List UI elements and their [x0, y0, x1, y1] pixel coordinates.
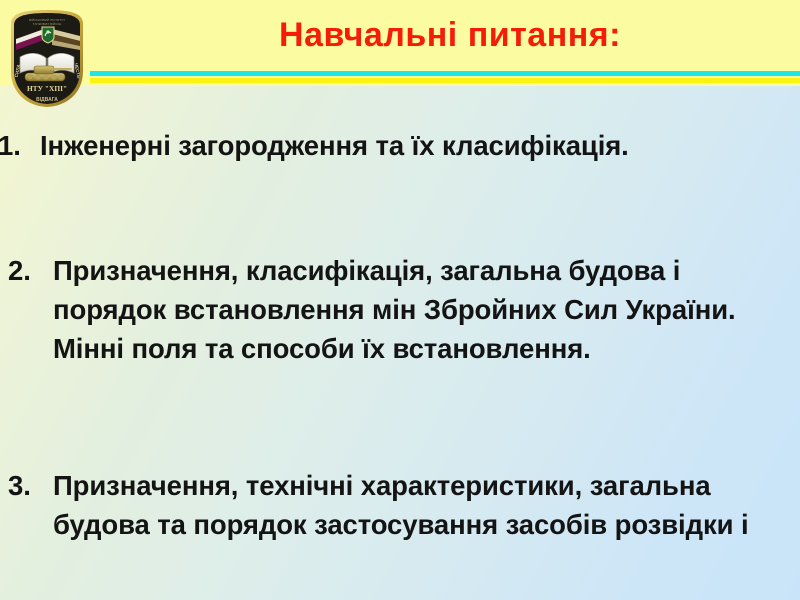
list-item-number: 3. [8, 466, 50, 505]
slide-canvas: Навчальні питання: [0, 0, 800, 600]
list-item: 1.Інженерні загородження та їх класифіка… [0, 126, 640, 165]
ntu-khpi-emblem-icon: ВІЙСЬКОВИЙ ІНСТИТУТ ТАНКОВИХ ВІЙСЬК [8, 9, 86, 108]
list-item-text: Інженерні загородження та їх класифікаці… [40, 130, 629, 161]
list-item-number: 2. [8, 251, 50, 290]
svg-text:ТАНКОВИХ ВІЙСЬК: ТАНКОВИХ ВІЙСЬК [33, 22, 62, 26]
page-title: Навчальні питання: [120, 13, 780, 57]
divider-rule-cyan [90, 71, 800, 76]
list-item-text: Призначення, технічні характеристики, за… [53, 470, 749, 540]
svg-text:ВІДВАГА: ВІДВАГА [36, 97, 58, 103]
divider-rule-yellow [90, 78, 800, 83]
list-item: 3. Призначення, технічні характеристики,… [8, 466, 800, 544]
list-item-number: 1. [0, 126, 38, 165]
list-item: 2. Призначення, класифікація, загальна б… [8, 251, 773, 368]
svg-text:НТУ "ХПІ": НТУ "ХПІ" [27, 84, 67, 93]
list-item-text: Призначення, класифікація, загальна будо… [53, 255, 736, 364]
